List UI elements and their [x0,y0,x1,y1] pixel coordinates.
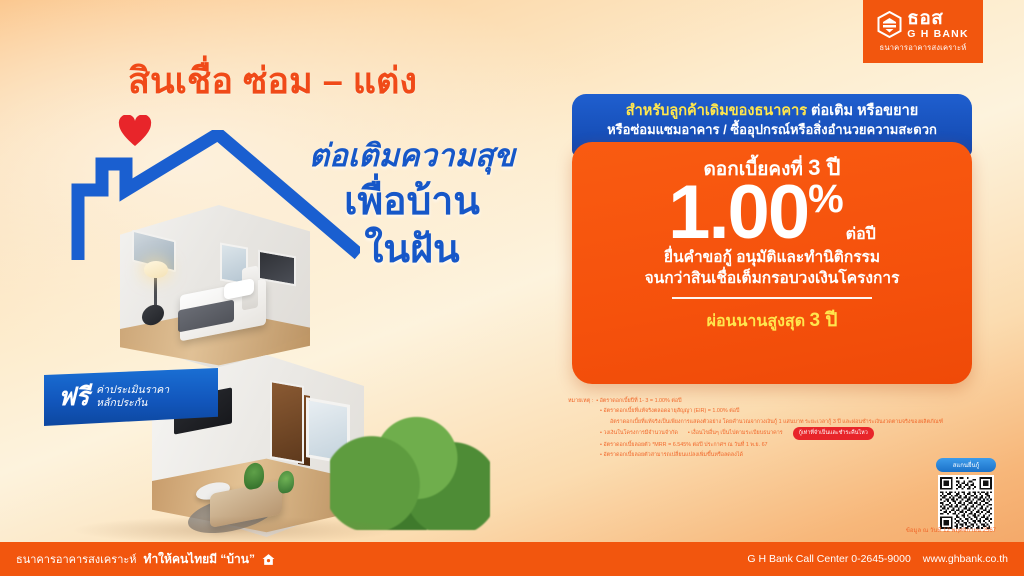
promo-condition-line-2: จนกว่าสินเชื่อเต็มกรอบวงเงินโครงการ [572,269,972,290]
house-illustration: ฟรี ค่าประเมินราคา หลักประกัน [30,110,510,530]
promo-condition-line-1: ยื่นคำขอกู้ อนุมัติและทำนิติกรรม [572,248,972,269]
footnote-item-1: • อัตราดอกเบี้ยที่แท้จริงตลอดอายุสัญญา (… [568,406,968,416]
footnote-row-1: หมายเหตุ : • อัตราดอกเบี้ยปีที่ 1- 3 = 1… [568,396,968,406]
footnote-item-3: • อัตราดอกเบี้ยลอยตัว *MRR = 6.545% ต่อป… [568,440,968,450]
logo-english-text: G H BANK [907,29,969,40]
promotional-banner: ธอส G H BANK ธนาคารอาคารสงเคราะห์ สินเชื… [0,0,1024,576]
shrub-decoration [330,410,490,530]
promo-header-rest: ต่อเติม หรือขยาย [807,103,918,119]
free-appraisal-badge: ฟรี ค่าประเมินราคา หลักประกัน [44,368,218,426]
house-cutaway-photo [92,205,362,535]
qr-code[interactable] [938,475,994,531]
footnote-item-2: อัตราดอกเบี้ยที่แท้จริงเป็นเพียงการแสดงต… [568,417,968,427]
promo-term-years: 3 ปี [810,310,838,331]
promo-card: สำหรับลูกค้าเดิมของธนาคาร ต่อเติม หรือขย… [572,94,972,384]
free-description: ค่าประเมินราคา หลักประกัน [96,384,169,410]
data-as-of-date: ข้อมูล ณ วันที่ 12 พฤศจิกายน 2567 [872,525,996,535]
ground-shadow [70,516,400,544]
footnote-row-inline: • วงเงินในโครงการมีจำนวนจำกัด • เงื่อนไข… [568,427,968,440]
footnote-lead: หมายเหตุ : [568,396,593,406]
qr-pill-label[interactable]: สแกนยื่นกู้ [936,458,996,472]
ghbank-house-icon [877,11,902,38]
footer-call-center: G H Bank Call Center 0-2645-9000 [747,553,910,565]
free-description-line-2: หลักประกัน [96,397,169,410]
logo-wordmark: ธอส G H BANK [907,9,969,40]
page-title: สินเชื่อ ซ่อม – แต่ง [128,52,417,109]
footer-left: ธนาคารอาคารสงเคราะห์ ทำให้คนไทยมี “บ้าน” [16,550,275,569]
logo-thai-text: ธอส [907,9,969,28]
rate-number: 1.00 [668,177,808,248]
promo-term-label: ผ่อนนานสูงสุด [707,313,806,330]
promo-rate-panel: ดอกเบี้ยคงที่ 3 ปี 1.00 % ต่อปี ยื่นคำขอ… [572,142,972,384]
footer-bank-name: ธนาคารอาคารสงเคราะห์ [16,550,137,568]
promo-term-row: ผ่อนนานสูงสุด 3 ปี [572,305,972,335]
logo-subtitle: ธนาคารอาคารสงเคราะห์ [879,42,966,54]
interior-door [270,380,304,464]
rate-percent-sign: % [808,181,844,219]
footnote-inline-left: • วงเงินในโครงการมีจำนวนจำกัด [600,428,678,438]
footnote-inline-mid: • เงื่อนไขอื่นๆ เป็นไปตามระเบียบธนาคาร [688,428,783,438]
logo-row: ธอส G H BANK [877,9,969,40]
footer-bar: ธนาคารอาคารสงเคราะห์ ทำให้คนไทยมี “บ้าน”… [0,542,1024,576]
footnote-item-4: • อัตราดอกเบี้ยลอยตัวสามารถเปลี่ยนแปลงเพ… [568,450,968,460]
promo-header-line-1: สำหรับลูกค้าเดิมของธนาคาร ต่อเติม หรือขย… [584,102,960,120]
free-description-line-1: ค่าประเมินราคา [96,384,169,397]
responsible-lending-badge: กู้เท่าที่จำเป็นและชำระคืนไหว [793,427,874,440]
rate-value-row: 1.00 % ต่อปี [572,177,972,248]
free-label: ฟรี [58,385,89,410]
footer-right: G H Bank Call Center 0-2645-9000 www.ghb… [747,553,1008,565]
bank-logo[interactable]: ธอส G H BANK ธนาคารอาคารสงเคราะห์ [863,0,983,63]
rate-per-year: ต่อปี [846,227,876,242]
divider [672,297,872,299]
promo-header-line-2: หรือซ่อมแซมอาคาร / ซื้ออุปกรณ์หรือสิ่งอำ… [584,122,960,139]
home-icon [262,553,275,566]
floor-lamp-shade [144,261,168,278]
footer-slogan: ทำให้คนไทยมี “บ้าน” [144,550,255,569]
promo-header-highlight: สำหรับลูกค้าเดิมของธนาคาร [626,103,807,119]
footer-website[interactable]: www.ghbank.co.th [923,553,1008,565]
footnotes: หมายเหตุ : • อัตราดอกเบี้ยปีที่ 1- 3 = 1… [568,396,968,461]
footnote-item-0: • อัตราดอกเบี้ยปีที่ 1- 3 = 1.00% ต่อปี [596,396,681,406]
